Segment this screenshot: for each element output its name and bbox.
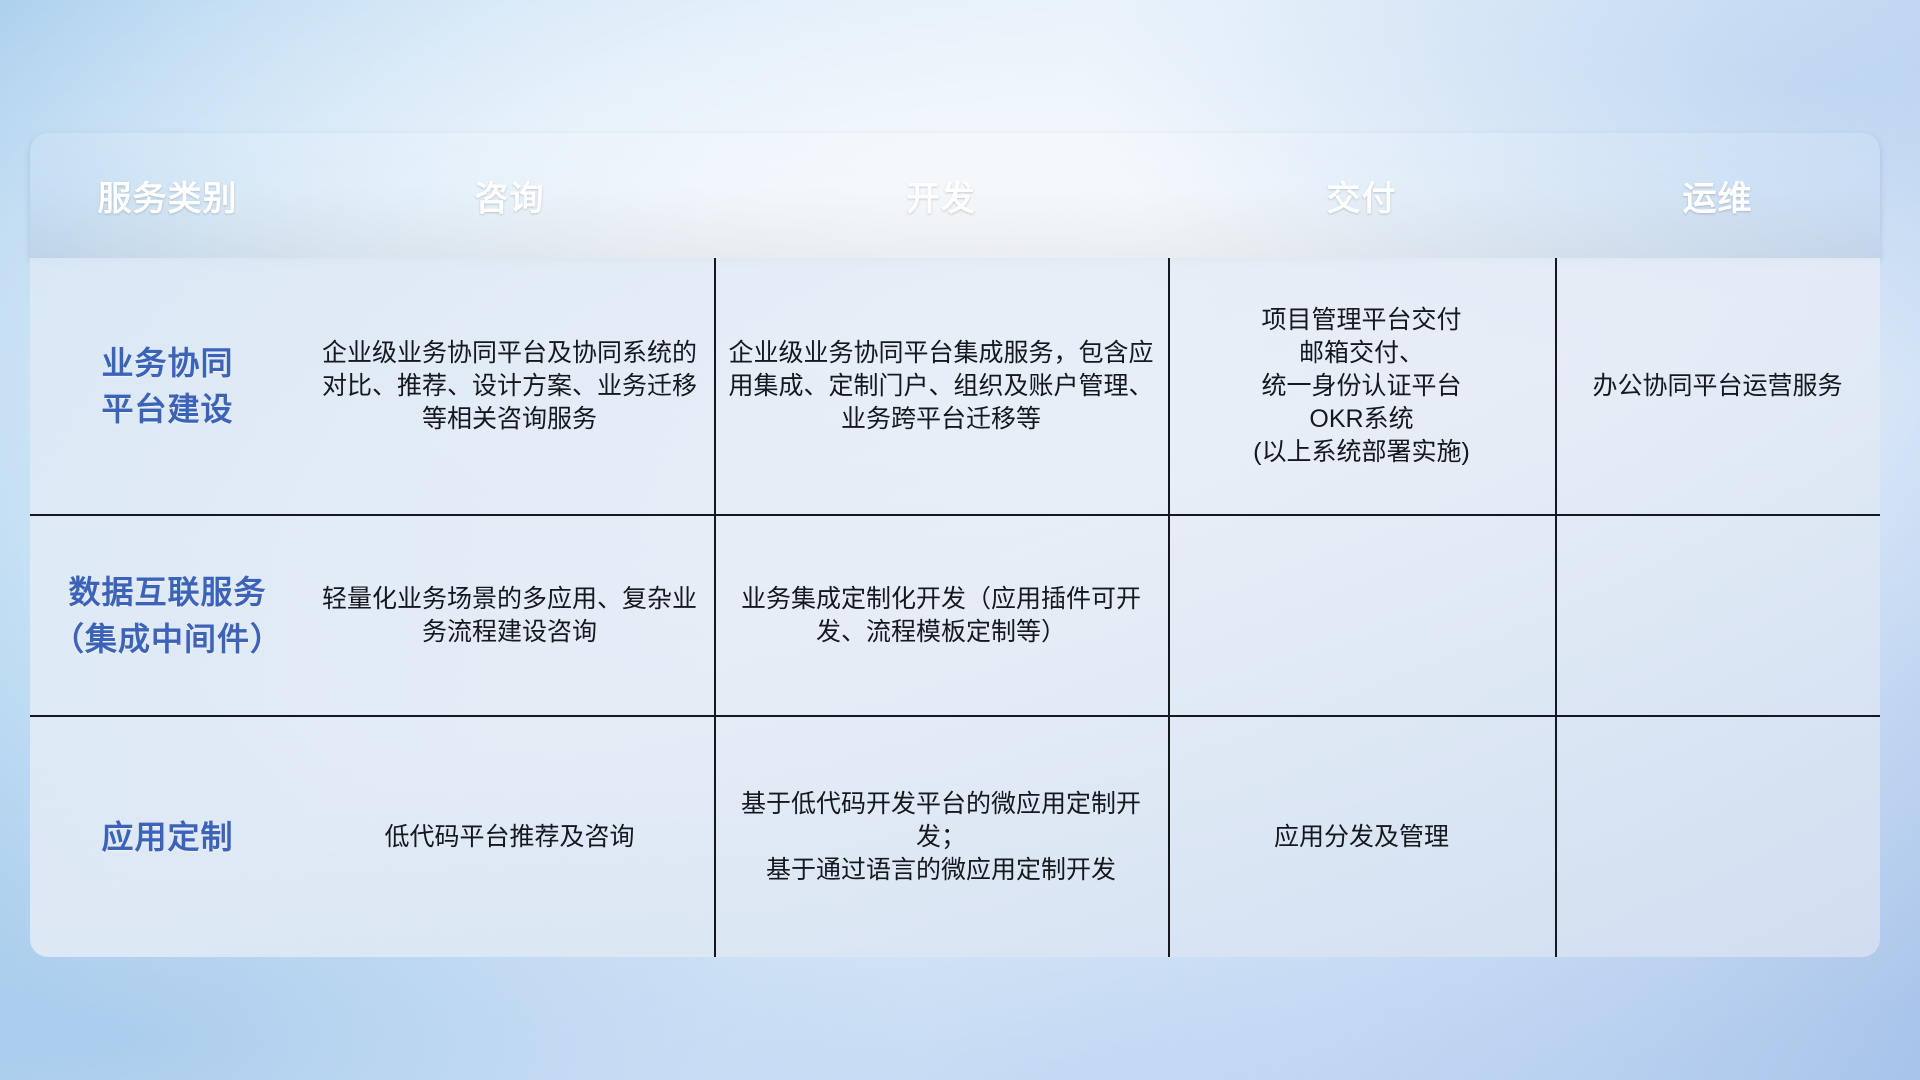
cell-operations: 办公协同平台运营服务	[1555, 258, 1880, 514]
row-category-label: 业务协同 平台建设	[30, 258, 305, 514]
cell-consulting: 低代码平台推荐及咨询	[305, 717, 714, 957]
cell-delivery	[1168, 516, 1555, 715]
cell-operations	[1555, 516, 1880, 715]
table-header-row: 服务类别 咨询 开发 交付 运维	[30, 133, 1880, 258]
cell-development: 业务集成定制化开发（应用插件可开发、流程模板定制等）	[714, 516, 1168, 715]
table-row: 数据互联服务 （集成中间件） 轻量化业务场景的多应用、复杂业务流程建设咨询 业务…	[30, 516, 1880, 717]
cell-development: 基于低代码开发平台的微应用定制开发； 基于通过语言的微应用定制开发	[714, 717, 1168, 957]
cell-delivery: 应用分发及管理	[1168, 717, 1555, 957]
cell-delivery: 项目管理平台交付 邮箱交付、 统一身份认证平台 OKR系统 (以上系统部署实施)	[1168, 258, 1555, 514]
cell-development: 企业级业务协同平台集成服务，包含应用集成、定制门户、组织及账户管理、业务跨平台迁…	[714, 258, 1168, 514]
cell-consulting: 轻量化业务场景的多应用、复杂业务流程建设咨询	[305, 516, 714, 715]
column-divider	[1555, 258, 1557, 957]
column-header-category: 服务类别	[30, 171, 305, 220]
row-category-label: 应用定制	[30, 717, 305, 957]
column-divider	[714, 258, 716, 957]
cell-consulting: 企业级业务协同平台及协同系统的对比、推荐、设计方案、业务迁移等相关咨询服务	[305, 258, 714, 514]
row-category-label: 数据互联服务 （集成中间件）	[30, 516, 305, 715]
table-row: 业务协同 平台建设 企业级业务协同平台及协同系统的对比、推荐、设计方案、业务迁移…	[30, 258, 1880, 516]
cell-operations	[1555, 717, 1880, 957]
column-divider	[1168, 258, 1170, 957]
column-header-delivery: 交付	[1168, 171, 1555, 220]
column-header-consulting: 咨询	[305, 171, 714, 220]
services-matrix-table: 服务类别 咨询 开发 交付 运维 业务协同 平台建设 企业级业务协同平台及协同系…	[30, 133, 1880, 957]
column-header-development: 开发	[714, 171, 1168, 220]
table-row: 应用定制 低代码平台推荐及咨询 基于低代码开发平台的微应用定制开发； 基于通过语…	[30, 717, 1880, 957]
table-body: 业务协同 平台建设 企业级业务协同平台及协同系统的对比、推荐、设计方案、业务迁移…	[30, 258, 1880, 957]
column-header-operations: 运维	[1555, 171, 1880, 220]
